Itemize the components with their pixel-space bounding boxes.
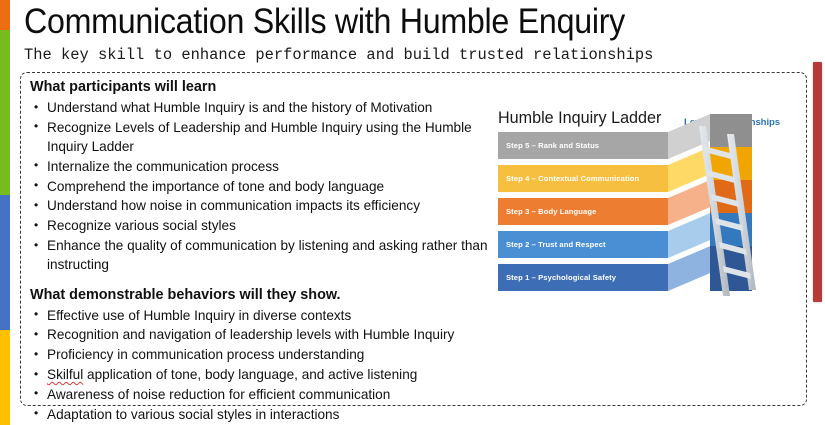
list-item: Recognize Levels of Leadership and Humbl… bbox=[30, 118, 500, 157]
ladder-step-1: Step 1 – Psychological Safety bbox=[498, 264, 668, 291]
list-item: Awareness of noise reduction for efficie… bbox=[30, 385, 500, 404]
list-item: Proficiency in communication process und… bbox=[30, 345, 500, 364]
ladder-step-label: Step 3 – Body Language bbox=[506, 207, 596, 216]
list-item: Internalize the communication process bbox=[30, 157, 500, 176]
humble-inquiry-ladder-diagram: Humble Inquiry Ladder Level 2 Relationsh… bbox=[494, 108, 794, 303]
ladder-step-3: Step 3 – Body Language bbox=[498, 198, 668, 225]
slide-canvas: Communication Skills with Humble Enquiry… bbox=[0, 0, 825, 425]
left-accent-rail bbox=[0, 0, 10, 425]
list-item: Effective use of Humble Inquiry in diver… bbox=[30, 306, 500, 325]
ladder-step-label: Step 5 – Rank and Status bbox=[506, 141, 599, 150]
page-title: Communication Skills with Humble Enquiry bbox=[24, 2, 625, 42]
list-item: Comprehend the importance of tone and bo… bbox=[30, 177, 500, 196]
list-item: Understand what Humble Inquiry is and th… bbox=[30, 98, 500, 117]
rail-segment-green bbox=[0, 30, 10, 195]
behaviors-bullet-list: Effective use of Humble Inquiry in diver… bbox=[30, 306, 500, 424]
list-item: Adaptation to various social styles in i… bbox=[30, 405, 500, 424]
section-heading-participants: What participants will learn bbox=[30, 78, 500, 97]
ladder-step-label: Step 4 – Contextual Communication bbox=[506, 174, 639, 183]
list-item: Recognition and navigation of leadership… bbox=[30, 325, 500, 344]
rail-segment-yellow bbox=[0, 330, 10, 425]
rail-segment-orange bbox=[0, 0, 10, 30]
rail-segment-blue bbox=[0, 195, 10, 330]
list-item: Understand how noise in communication im… bbox=[30, 196, 500, 215]
misspelled-word: Skilful bbox=[47, 367, 83, 382]
ladder-step-stack: Step 5 – Rank and StatusStep 4 – Context… bbox=[498, 132, 788, 300]
ladder-step-label: Step 1 – Psychological Safety bbox=[506, 273, 616, 282]
step-block-side-face bbox=[710, 246, 752, 291]
participants-bullet-list: Understand what Humble Inquiry is and th… bbox=[30, 98, 500, 275]
list-item-misspelled: Skilful application of tone, body langua… bbox=[30, 365, 500, 384]
ladder-step-4: Step 4 – Contextual Communication bbox=[498, 165, 668, 192]
section-heading-behaviors: What demonstrable behaviors will they sh… bbox=[30, 286, 500, 305]
learning-outcomes-column: What participants will learn Understand … bbox=[30, 78, 500, 424]
ladder-step-label: Step 2 – Trust and Respect bbox=[506, 240, 606, 249]
list-item: Recognize various social styles bbox=[30, 216, 500, 235]
ladder-step-2: Step 2 – Trust and Respect bbox=[498, 231, 668, 258]
right-red-accent-bar bbox=[813, 62, 822, 302]
ladder-step-5: Step 5 – Rank and Status bbox=[498, 132, 668, 159]
list-item: Enhance the quality of communication by … bbox=[30, 236, 500, 275]
page-subtitle: The key skill to enhance performance and… bbox=[24, 45, 653, 65]
diagram-title: Humble Inquiry Ladder bbox=[498, 108, 661, 128]
